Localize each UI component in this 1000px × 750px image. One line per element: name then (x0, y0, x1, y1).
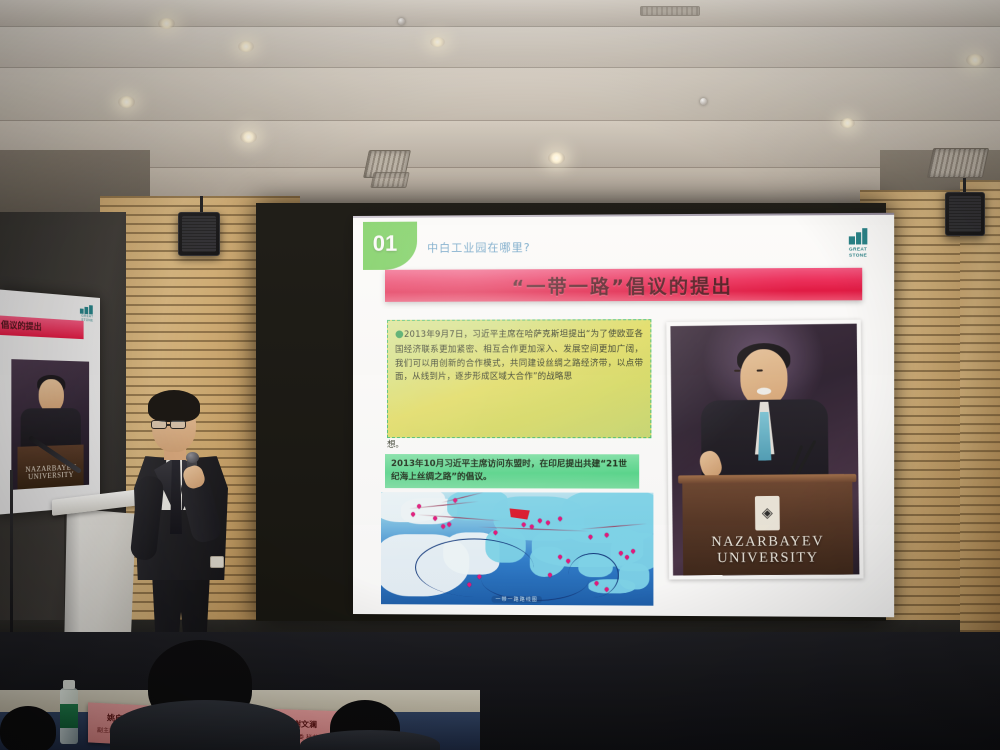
face (740, 349, 788, 406)
quote-text-overflow: 想。 (387, 438, 404, 450)
ceiling-downlight (238, 41, 254, 52)
great-stone-logo: GREAT STONE (834, 225, 881, 262)
ceiling-downlight (158, 18, 175, 29)
slide-title-banner: “一带一路”倡议的提出 (385, 268, 862, 302)
ceiling-downlight (548, 152, 565, 164)
xi-jinping-speech-photo: ◈ NAZARBAYEV UNIVERSITY (670, 324, 859, 576)
great-stone-mark-icon (849, 228, 868, 244)
great-stone-logo-small: GREAT STONE (80, 304, 95, 319)
hair (148, 390, 200, 422)
sprinkler-head (398, 18, 405, 25)
podium: ◈ NAZARBAYEV UNIVERSITY (682, 479, 853, 575)
ceiling-downlight (966, 54, 984, 66)
ceiling (0, 0, 1000, 212)
projection-screen[interactable]: 01 中白工业园在哪里? GREAT STONE “一带一路”倡议的提出 (353, 213, 894, 617)
ceiling-downlight (840, 118, 855, 128)
wall-monitor-duplicate-slide[interactable]: GREAT STONE 倡议的提出 NAZARBAYEV UNIVERSITY (0, 289, 100, 514)
podium-line-1: NAZARBAYEV (683, 534, 853, 551)
logo-line-2: STONE (849, 253, 867, 259)
microphone-stand-pole (10, 470, 13, 650)
eyeglasses-right-lens (170, 420, 186, 429)
presentation-slide: 01 中白工业园在哪里? GREAT STONE “一带一路”倡议的提出 (353, 213, 894, 617)
hvac-vent (927, 148, 989, 178)
section-title: 中白工业园在哪里? (427, 239, 531, 256)
slide-top-rule (353, 213, 894, 218)
ceiling-downlight (430, 37, 445, 47)
ceiling-downlight (118, 96, 135, 108)
monitor-banner: 倡议的提出 (0, 315, 84, 339)
section-number: 01 (373, 231, 398, 257)
slide-title: “一带一路”倡议的提出 (512, 271, 733, 299)
ceiling-speaker-left (178, 212, 220, 256)
microphone-head-icon (186, 452, 199, 463)
projection-screen-housing: 01 中白工业园在哪里? GREAT STONE “一带一路”倡议的提出 (256, 203, 886, 621)
conference-room-scene: 01 中白工业园在哪里? GREAT STONE “一带一路”倡议的提出 (0, 0, 1000, 750)
water-bottle (60, 688, 78, 744)
hvac-vent (370, 172, 409, 188)
bullet-icon: ● (395, 329, 404, 340)
podium-line-2: UNIVERSITY (683, 550, 853, 567)
ceiling-speaker-right (945, 192, 985, 236)
second-initiative-text: 2013年10月习近平主席访问东盟时，在印尼提出共建“21世纪海上丝绸之路”的倡… (391, 458, 633, 485)
eyeglasses-left-lens (151, 420, 167, 429)
sprinkler-head (700, 98, 707, 105)
ceiling-downlight (240, 131, 257, 143)
university-crest-icon: ◈ (755, 496, 780, 531)
presenter-with-microphone (124, 380, 274, 670)
monitor-banner-text: 倡议的提出 (0, 315, 84, 338)
slide-photo-frame: ◈ NAZARBAYEV UNIVERSITY (666, 320, 863, 580)
section-number-badge: 01 (363, 222, 417, 270)
belt-and-road-map: 一带一路路线图 (381, 492, 653, 606)
necktie (170, 460, 182, 534)
bottle-label (60, 704, 78, 728)
second-initiative-box: 2013年10月习近平主席访问东盟时，在印尼提出共建“21世纪海上丝绸之路”的倡… (385, 454, 639, 489)
quote-text-box: ●2013年9月7日，习近平主席在哈萨克斯坦提出“为了使欧亚各国经济联系更加紧密… (387, 319, 651, 438)
map-watermark: 一带一路路线图 (491, 596, 541, 603)
audience-head (0, 706, 56, 750)
quote-text: 2013年9月7日，习近平主席在哈萨克斯坦提出“为了使欧亚各国经济联系更加紧密、… (395, 328, 643, 381)
hvac-vent (640, 6, 700, 16)
wood-slat-wall-far-right (960, 180, 1000, 650)
wall-outlet (210, 556, 224, 568)
